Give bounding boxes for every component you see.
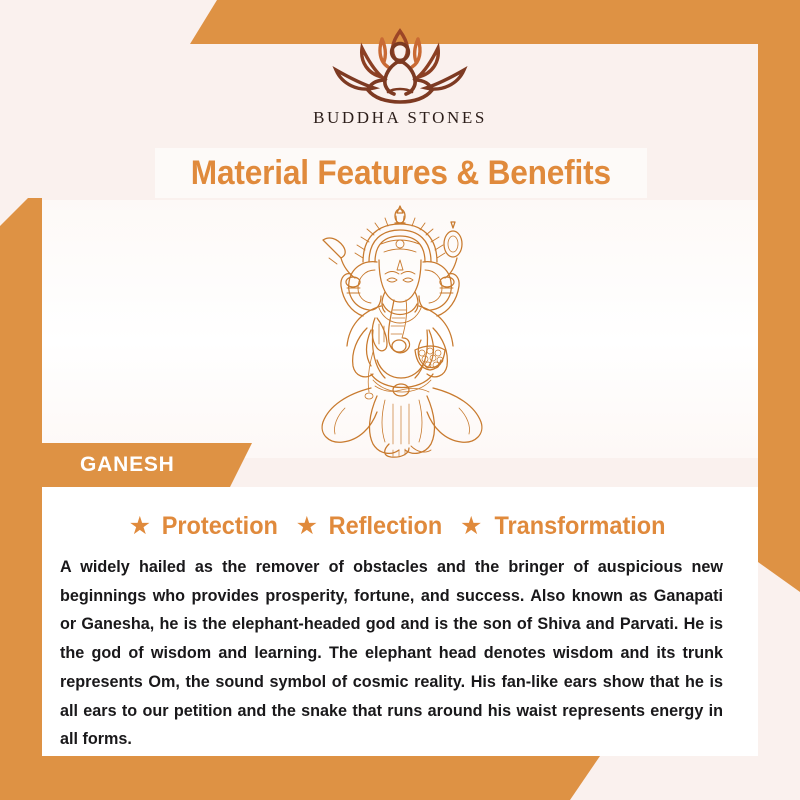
brand-name: BUDDHA STONES	[0, 108, 800, 128]
content-card: ★ Protection ★ Reflection ★ Transformati…	[42, 487, 758, 756]
frame-bottom-bar	[0, 756, 800, 800]
star-icon: ★	[129, 514, 151, 539]
star-icon: ★	[460, 514, 482, 539]
feature-list: ★ Protection ★ Reflection ★ Transformati…	[42, 487, 758, 541]
page-title: Material Features & Benefits	[191, 154, 611, 193]
ribbon-label: GANESH	[22, 453, 175, 477]
feature-item: ★ Protection	[129, 512, 282, 541]
brand-logo: BUDDHA STONES	[0, 22, 800, 128]
feature-item: ★ Transformation	[460, 512, 671, 541]
feature-label: Protection	[162, 512, 278, 541]
infographic-page: BUDDHA STONES Material Features & Benefi…	[0, 0, 800, 800]
description-text: A widely hailed as the remover of obstac…	[60, 553, 723, 754]
lotus-meditation-icon	[0, 22, 800, 104]
page-title-band: Material Features & Benefits	[155, 148, 647, 198]
hero-illustration	[42, 200, 758, 458]
star-icon: ★	[296, 514, 318, 539]
feature-item: ★ Reflection	[296, 512, 446, 541]
ganesh-ribbon: GANESH	[22, 443, 252, 487]
feature-label: Reflection	[329, 512, 443, 541]
frame-left-bar	[0, 198, 42, 800]
feature-label: Transformation	[495, 512, 666, 541]
